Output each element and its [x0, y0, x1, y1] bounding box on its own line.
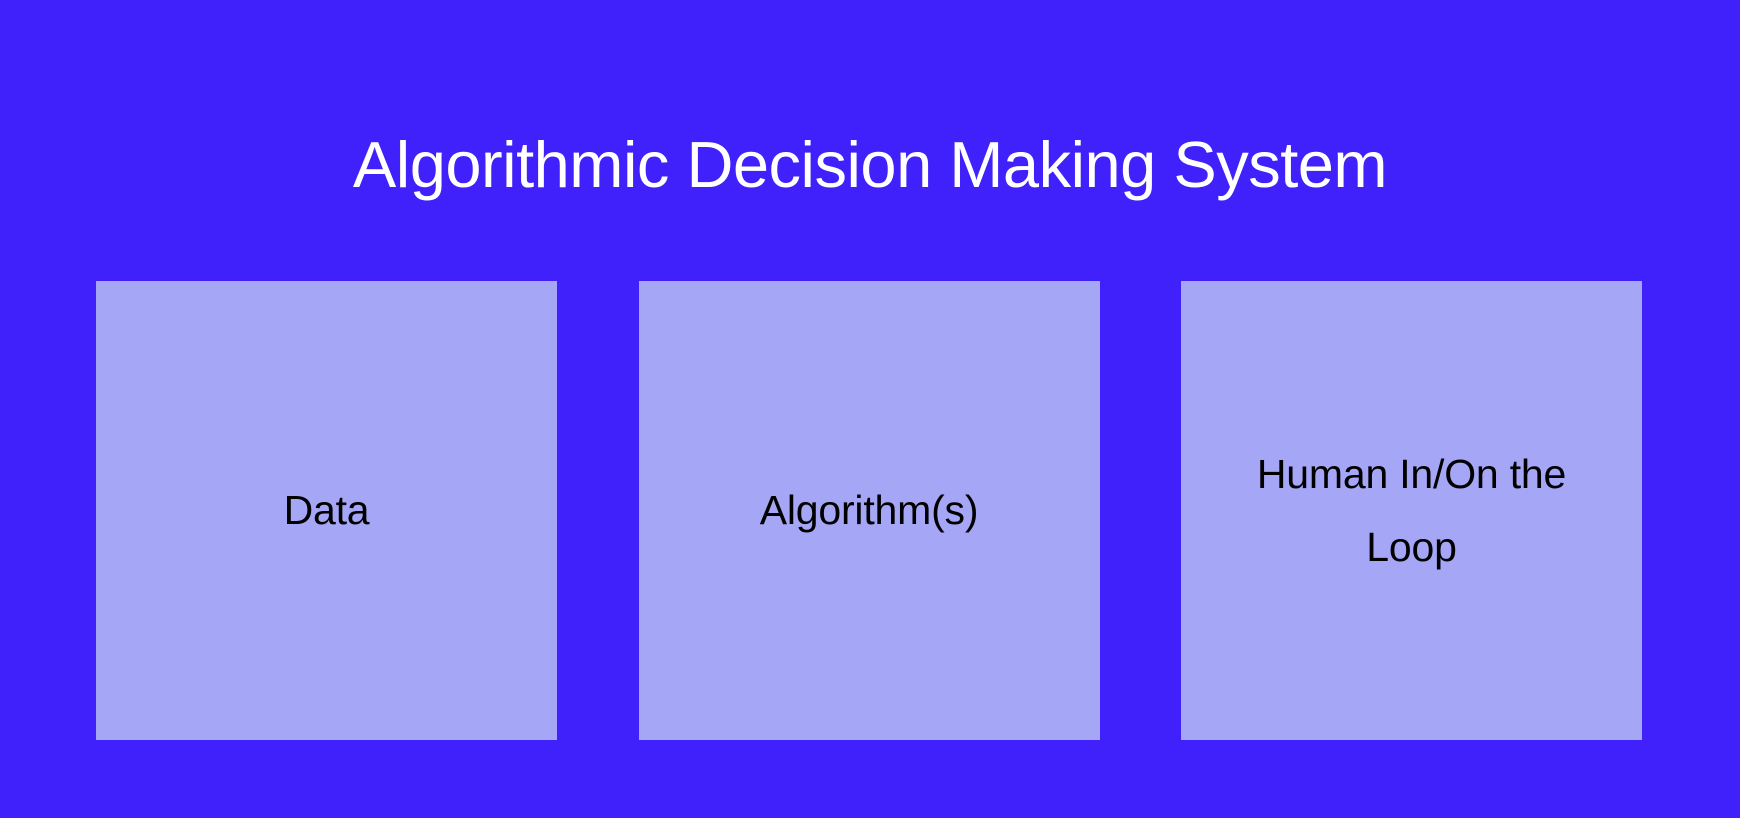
slide-canvas: Algorithmic Decision Making System Data … [0, 0, 1740, 818]
component-box-algorithms[interactable]: Algorithm(s) [639, 281, 1100, 740]
component-row: Data Algorithm(s) Human In/On the Loop [96, 281, 1642, 740]
component-label: Data [266, 474, 388, 547]
component-label: Algorithm(s) [742, 474, 997, 547]
component-box-human-in-on-the-loop[interactable]: Human In/On the Loop [1181, 281, 1642, 740]
page-title: Algorithmic Decision Making System [0, 126, 1740, 204]
component-box-data[interactable]: Data [96, 281, 557, 740]
component-label: Human In/On the Loop [1214, 438, 1610, 584]
